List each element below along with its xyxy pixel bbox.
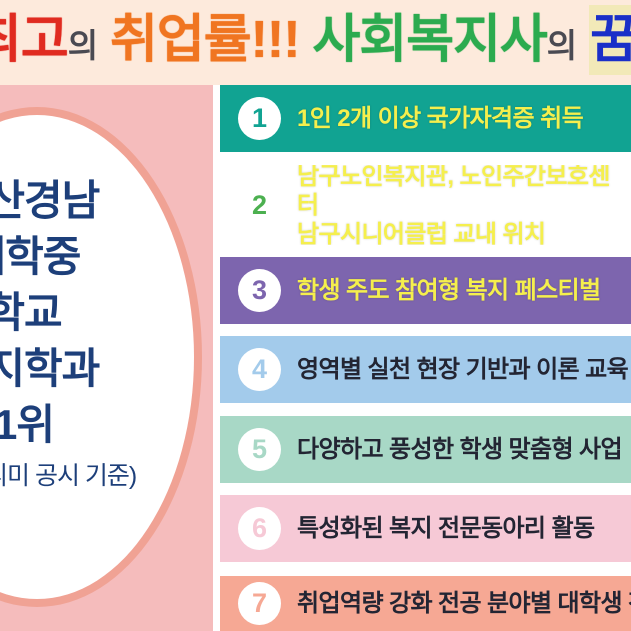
list-item-6[interactable]: 6특성화된 복지 전문동아리 활동 (220, 495, 631, 562)
list-item-number-badge: 4 (238, 348, 281, 391)
list-item-label: 취업역량 강화 전공 분야별 대학생 전공 (297, 589, 631, 618)
left-panel-line-3: 학교 (0, 285, 144, 341)
header-band: 최고의취업률!!!사회복지사의꿈을 (0, 0, 631, 85)
list-item-3[interactable]: 3학생 주도 참여형 복지 페스티벌 (220, 257, 631, 324)
left-panel-line-4: 복지학과 (0, 341, 144, 397)
list-item-2[interactable]: 2남구노인복지관, 노인주간보호센터남구시니어클럽 교내 위치 (220, 165, 631, 245)
headline-seg-socialworker: 사회복지사 (313, 5, 547, 75)
left-panel-note: (대학알리미 공시 기준) (0, 461, 144, 491)
left-panel-line-5: 1위 (0, 397, 144, 453)
headline-seg-chwieomryul: 취업률!!! (110, 5, 299, 75)
list-item-label-line: 남구노인복지관, 노인주간보호센터 (297, 165, 631, 220)
list-item-label-line: 남구시니어클럽 교내 위치 (297, 220, 631, 246)
list-item-number-badge: 1 (238, 97, 281, 140)
list-item-number-badge: 2 (238, 184, 281, 227)
left-panel-line-1: 부산경남 (0, 173, 144, 229)
list-item-label-line: 1인 2개 이상 국가자격증 취득 (297, 104, 631, 133)
headline-seg-ui-2: 의 (547, 11, 576, 81)
list-item-number-badge: 6 (238, 507, 281, 550)
feature-list: 11인 2개 이상 국가자격증 취득2남구노인복지관, 노인주간보호센터남구시니… (213, 85, 631, 631)
list-item-label-line: 영역별 실천 현장 기반과 이론 교육 (297, 355, 631, 384)
headline-seg-choego: 최고 (0, 5, 68, 75)
list-item-number-badge: 5 (238, 428, 281, 471)
left-panel-line-2: 대학중 (0, 229, 144, 285)
headline-seg-kkum: 꿈 (589, 5, 631, 75)
list-item-label: 영역별 실천 현장 기반과 이론 교육 (297, 355, 631, 384)
headline-seg-ui-1: 의 (68, 11, 97, 81)
list-item-number-badge: 7 (238, 582, 281, 625)
list-item-label: 남구노인복지관, 노인주간보호센터남구시니어클럽 교내 위치 (297, 165, 631, 245)
list-item-label: 학생 주도 참여형 복지 페스티벌 (297, 276, 631, 305)
list-item-label: 1인 2개 이상 국가자격증 취득 (297, 104, 631, 133)
list-item-label: 특성화된 복지 전문동아리 활동 (297, 514, 631, 543)
list-item-1[interactable]: 11인 2개 이상 국가자격증 취득 (220, 85, 631, 152)
list-item-4[interactable]: 4영역별 실천 현장 기반과 이론 교육 (220, 336, 631, 403)
headline-text: 최고의취업률!!!사회복지사의꿈을 (0, 5, 631, 81)
list-item-label: 다양하고 풍성한 학생 맞춤형 사업 (297, 435, 631, 464)
left-panel-text-block: 부산경남 대학중 학교 복지학과 1위 (대학알리미 공시 기준) (0, 173, 144, 491)
list-item-label-line: 특성화된 복지 전문동아리 활동 (297, 514, 631, 543)
list-item-7[interactable]: 7취업역량 강화 전공 분야별 대학생 전공 (220, 576, 631, 631)
left-panel: 부산경남 대학중 학교 복지학과 1위 (대학알리미 공시 기준) (0, 85, 213, 631)
list-item-label-line: 학생 주도 참여형 복지 페스티벌 (297, 276, 631, 305)
list-item-label-line: 취업역량 강화 전공 분야별 대학생 전공 (297, 589, 631, 618)
poster-root: 최고의취업률!!!사회복지사의꿈을 부산경남 대학중 학교 복지학과 1위 (대… (0, 0, 631, 631)
list-item-label-line: 다양하고 풍성한 학생 맞춤형 사업 (297, 435, 631, 464)
list-item-number-badge: 3 (238, 269, 281, 312)
list-item-5[interactable]: 5다양하고 풍성한 학생 맞춤형 사업 (220, 416, 631, 483)
